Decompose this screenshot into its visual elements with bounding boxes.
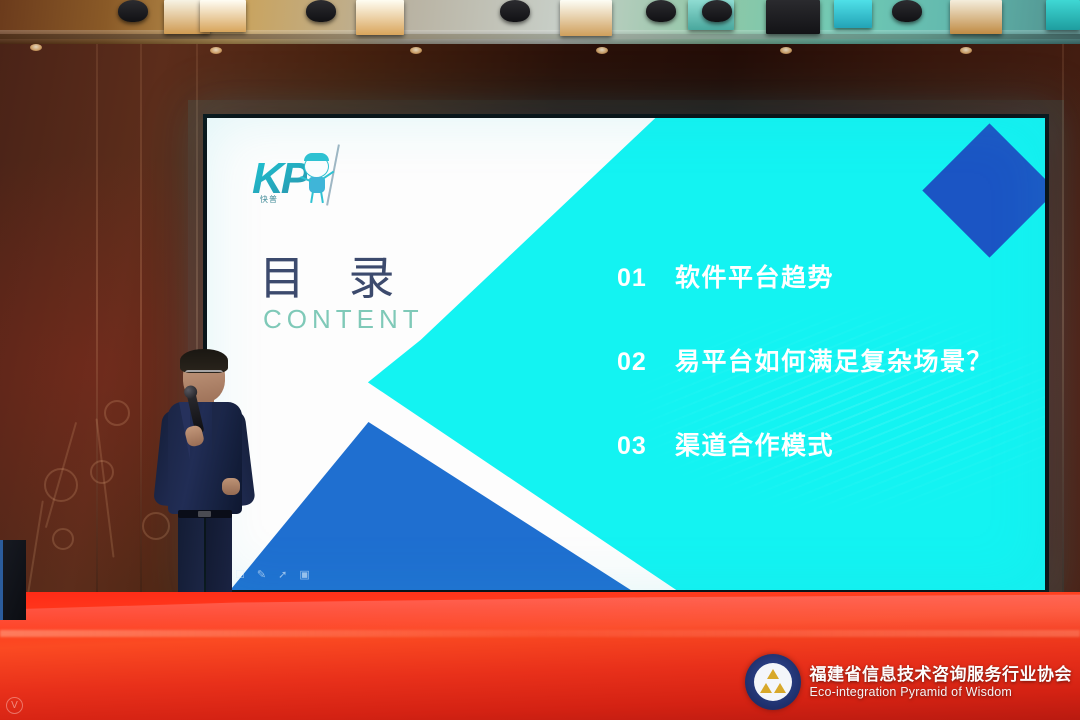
ceiling-downlight-icon	[596, 47, 608, 54]
ceiling-downlight-icon	[210, 47, 222, 54]
presenter-lapel-right	[212, 402, 223, 460]
toc-item: 02 易平台如何满足复杂场景？	[617, 342, 1037, 378]
stage-light-icon	[766, 0, 820, 34]
mascot-leg-right-icon	[320, 192, 324, 203]
organization-name-en: Eco-integration Pyramid of Wisdom	[810, 685, 1073, 700]
toc-item: 01 软件平台趋势	[617, 258, 1037, 294]
presenter-hand-right	[222, 478, 240, 495]
corner-watermark-v: V	[6, 697, 23, 714]
mascot-hair-icon	[304, 153, 329, 161]
organization-name-cn: 福建省信息技术咨询服务行业协会	[810, 665, 1073, 685]
slide-title-cn: 目 录	[259, 242, 411, 308]
table-of-contents: 01 软件平台趋势 02 易平台如何满足复杂场景？ 03 渠道合作模式	[617, 258, 1037, 510]
ceiling-downlight-icon	[30, 44, 42, 51]
wall-vine-circle	[52, 528, 74, 550]
slide-title-en: CONTENT	[263, 304, 424, 335]
slide-canvas: KP 快普 目 录 CONTENT 01 软件平台趋势 02	[207, 118, 1045, 590]
ceiling-downlight-icon	[410, 47, 422, 54]
stage-light-icon	[306, 0, 336, 22]
stage-light-icon	[892, 0, 922, 22]
organization-watermark: 福建省信息技术咨询服务行业协会 Eco-integration Pyramid …	[745, 654, 1073, 710]
toc-number: 02	[617, 348, 675, 377]
wall-vine-circle	[104, 400, 130, 426]
led-presentation-screen: KP 快普 目 录 CONTENT 01 软件平台趋势 02	[203, 114, 1049, 594]
pyramid-triangles-icon	[760, 669, 786, 695]
stage-light-icon	[118, 0, 148, 22]
stage-speaker-cabinet	[0, 540, 26, 620]
pyramid-recycle-badge-icon	[745, 654, 801, 710]
lighting-truss	[0, 34, 1080, 39]
stage-light-icon	[200, 0, 246, 32]
toc-number: 03	[617, 432, 675, 461]
stage-light-icon	[356, 0, 404, 35]
slide-view-icon[interactable]: ▣	[299, 568, 309, 581]
stage-light-icon	[500, 0, 530, 22]
toc-number: 01	[617, 264, 675, 293]
cursor-icon[interactable]: ➚	[278, 568, 287, 581]
wall-seam	[96, 40, 98, 640]
toc-label: 易平台如何满足复杂场景？	[675, 342, 993, 378]
screenshot-root: KP 快普 目 录 CONTENT 01 软件平台趋势 02	[0, 0, 1080, 720]
toc-item: 03 渠道合作模式	[617, 426, 1037, 462]
glasses-icon	[185, 370, 223, 379]
wall-seam	[140, 40, 142, 640]
brand-subtext: 快普	[260, 194, 278, 205]
stage-light-icon	[1046, 0, 1080, 30]
ceiling-downlight-icon	[960, 47, 972, 54]
mascot-leg-left-icon	[310, 192, 314, 203]
brand-logo: KP 快普	[252, 146, 348, 216]
stage-light-icon	[646, 0, 676, 22]
wall-seam	[1062, 40, 1064, 640]
stage-light-icon	[950, 0, 1002, 34]
stage-floor-edge	[0, 630, 1080, 637]
presenter-belt	[178, 510, 232, 518]
stage-light-icon	[560, 0, 612, 36]
ceiling-downlight-icon	[780, 47, 792, 54]
organization-name-block: 福建省信息技术咨询服务行业协会 Eco-integration Pyramid …	[810, 665, 1073, 700]
toc-label: 软件平台趋势	[675, 258, 834, 294]
stage-light-icon	[702, 0, 732, 22]
toc-label: 渠道合作模式	[675, 426, 834, 462]
stage-light-icon	[834, 0, 872, 28]
